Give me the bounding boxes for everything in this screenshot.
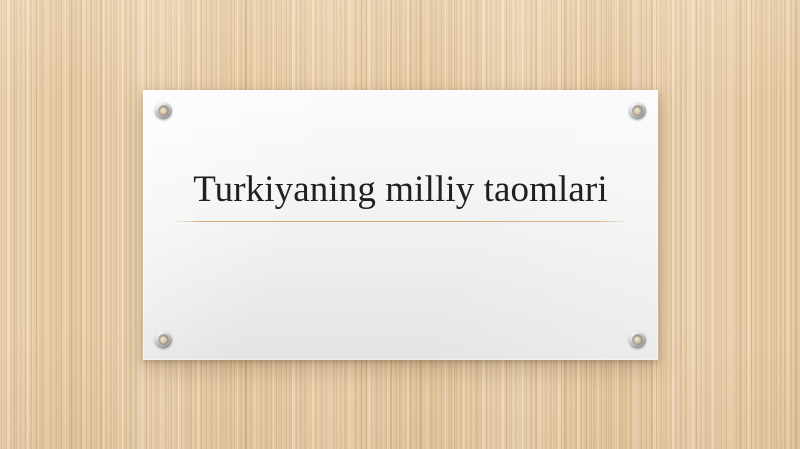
screw-core (159, 106, 168, 115)
panel-edge-highlight (143, 90, 658, 360)
screw-bottom-left-icon (155, 331, 172, 348)
screw-bottom-right-icon (629, 331, 646, 348)
screw-top-left-icon (155, 102, 172, 119)
screw-core (633, 335, 642, 344)
title-divider-rule (176, 221, 625, 222)
presentation-slide: Turkiyaning milliy taomlari (0, 0, 800, 449)
screw-core (633, 106, 642, 115)
sign-panel: Turkiyaning milliy taomlari (143, 90, 658, 360)
panel-sheen-overlay (143, 90, 658, 360)
slide-title: Turkiyaning milliy taomlari (176, 168, 625, 212)
screw-top-right-icon (629, 102, 646, 119)
title-block: Turkiyaning milliy taomlari (176, 168, 625, 222)
screw-core (159, 335, 168, 344)
